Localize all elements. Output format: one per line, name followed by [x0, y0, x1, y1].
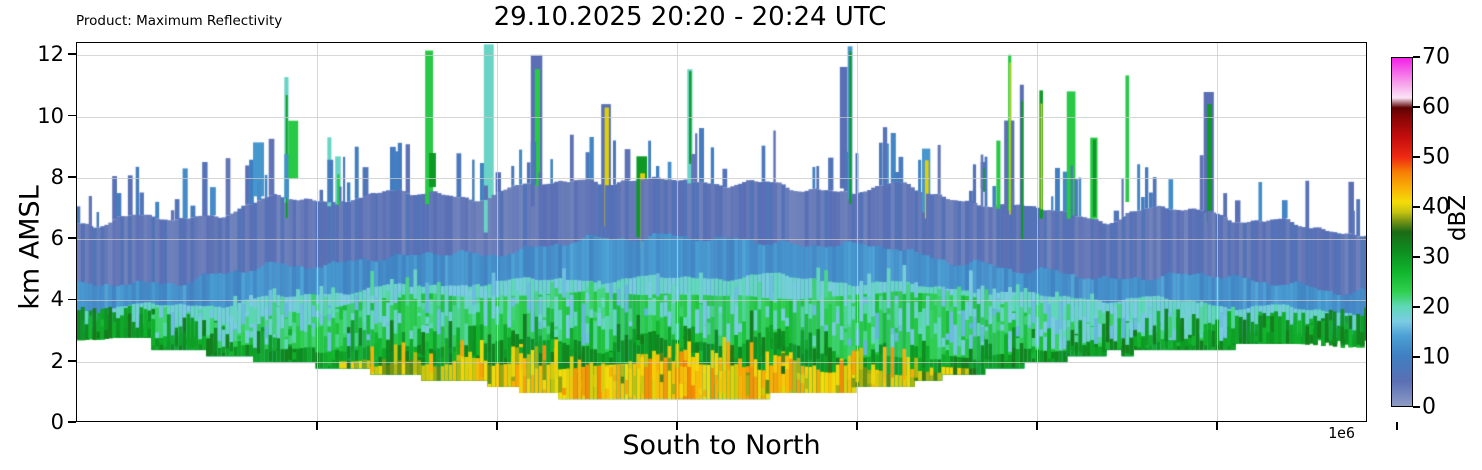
x-tick-mark: [1396, 422, 1398, 430]
y-tick-mark: [68, 299, 76, 301]
colorbar-tick-label: 0: [1422, 395, 1436, 420]
y-tick-mark: [68, 176, 76, 178]
colorbar-tick-label: 20: [1422, 295, 1450, 320]
colorbar-tick-label: 50: [1422, 145, 1450, 170]
colorbar-tick-label: 70: [1422, 45, 1450, 70]
colorbar-tick-mark: [1413, 156, 1420, 158]
colorbar-tick-label: 30: [1422, 245, 1450, 270]
colorbar-tick-label: 40: [1422, 195, 1450, 220]
colorbar-tick-mark: [1413, 106, 1420, 108]
y-tick-label: 6: [12, 226, 64, 250]
x-tick-mark: [1216, 422, 1218, 430]
x-axis-title: South to North: [76, 430, 1367, 461]
plot-area: [76, 42, 1367, 422]
y-tick-mark: [68, 237, 76, 239]
y-tick-mark: [68, 115, 76, 117]
colorbar-tick-mark: [1413, 56, 1420, 58]
x-tick-mark: [856, 422, 858, 430]
colorbar: [1391, 57, 1413, 407]
colorbar-tick-label: 10: [1422, 345, 1450, 370]
y-tick-label: 0: [12, 410, 64, 434]
y-tick-label: 12: [12, 42, 64, 66]
colorbar-tick-label: 60: [1422, 95, 1450, 120]
colorbar-tick-mark: [1413, 256, 1420, 258]
y-tick-mark: [68, 53, 76, 55]
colorbar-tick-mark: [1413, 356, 1420, 358]
y-tick-label: 10: [12, 104, 64, 128]
x-tick-mark: [316, 422, 318, 430]
x-tick-mark: [496, 422, 498, 430]
x-tick-mark: [1036, 422, 1038, 430]
x-tick-mark: [676, 422, 678, 430]
y-tick-label: 2: [12, 349, 64, 373]
colorbar-gradient: [1391, 57, 1413, 407]
reflectivity-heatmap-canvas: [77, 43, 1367, 422]
y-tick-label: 4: [12, 287, 64, 311]
x-axis-offset-label: 1e6: [1328, 424, 1355, 442]
reflectivity-cross-section-figure: 29.10.2025 20:20 - 20:24 UTC Product: Ma…: [0, 0, 1482, 470]
colorbar-tick-mark: [1413, 406, 1420, 408]
y-tick-label: 8: [12, 165, 64, 189]
colorbar-tick-mark: [1413, 306, 1420, 308]
y-tick-mark: [68, 421, 76, 423]
colorbar-tick-mark: [1413, 206, 1420, 208]
y-tick-mark: [68, 360, 76, 362]
